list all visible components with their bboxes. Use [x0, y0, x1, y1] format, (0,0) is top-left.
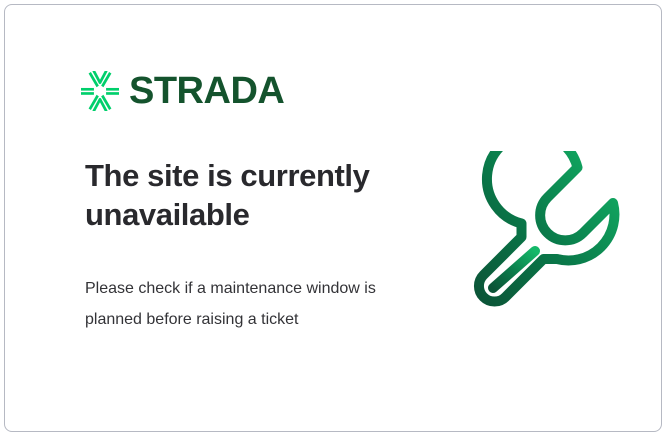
- maintenance-illustration: [453, 151, 629, 327]
- brand-wordmark: STRADA: [129, 72, 284, 110]
- brand-logo: STRADA: [81, 71, 284, 111]
- error-page-card: STRADA The site is currently unavailable…: [4, 4, 662, 432]
- page-description: Please check if a maintenance window is …: [85, 235, 385, 335]
- wrench-icon: [453, 151, 629, 327]
- asterisk-star-logo-icon: [81, 71, 119, 111]
- page-title: The site is currently unavailable: [85, 157, 425, 235]
- status-message-block: The site is currently unavailable Please…: [85, 157, 425, 335]
